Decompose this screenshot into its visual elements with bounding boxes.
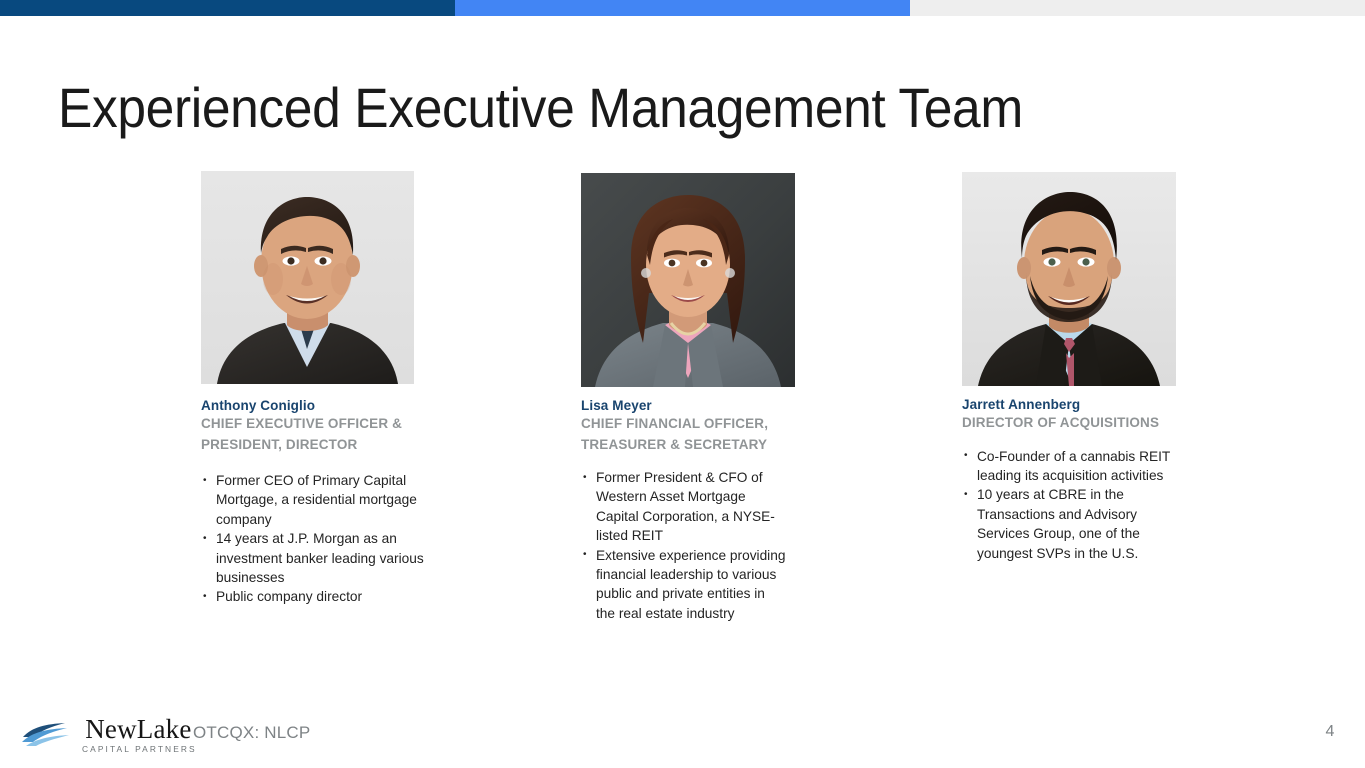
executive-role-1: CHIEF EXECUTIVE OFFICER & PRESIDENT, DIR… <box>201 414 411 455</box>
headshot-photo-anthony-coniglio <box>201 171 414 384</box>
headshot-photo-lisa-meyer <box>581 173 795 387</box>
list-item: 14 years at J.P. Morgan as an investment… <box>201 529 439 587</box>
executive-card-3: Jarrett Annenberg DIRECTOR OF ACQUISITIO… <box>962 160 1184 563</box>
list-item: Co-Founder of a cannabis REIT leading it… <box>962 447 1182 486</box>
executive-name-2: Lisa Meyer <box>581 397 796 414</box>
list-item: Extensive experience providing financial… <box>581 546 786 624</box>
logo-wordmark: NewLake CAPITAL PARTNERS <box>80 716 197 753</box>
logo-primary-text: NewLake <box>85 716 191 743</box>
list-item: Former CEO of Primary Capital Mortgage, … <box>201 471 439 529</box>
executive-role-3: DIRECTOR OF ACQUISITIONS <box>962 413 1177 434</box>
accent-bar-segment-dark <box>0 0 455 16</box>
executive-name-3: Jarrett Annenberg <box>962 396 1184 413</box>
executive-name-1: Anthony Coniglio <box>201 397 441 414</box>
accent-bar-segment-gray <box>910 0 1365 16</box>
executive-bullets-1: Former CEO of Primary Capital Mortgage, … <box>201 471 439 607</box>
page-number: 4 <box>1320 723 1340 741</box>
top-accent-bar <box>0 0 1365 16</box>
logo-secondary-text: CAPITAL PARTNERS <box>80 745 197 753</box>
executive-bullets-3: Co-Founder of a cannabis REIT leading it… <box>962 447 1182 563</box>
list-item: 10 years at CBRE in the Transactions and… <box>962 485 1182 563</box>
company-logo: NewLake CAPITAL PARTNERS <box>20 716 197 753</box>
stock-ticker: OTCQX: NLCP <box>193 723 310 743</box>
executive-role-2: CHIEF FINANCIAL OFFICER, TREASURER & SEC… <box>581 414 781 455</box>
page-title: Experienced Executive Management Team <box>58 74 1023 142</box>
wave-logo-icon <box>20 720 74 750</box>
executive-card-1: Anthony Coniglio CHIEF EXECUTIVE OFFICER… <box>201 160 441 607</box>
list-item: Public company director <box>201 587 439 606</box>
accent-bar-segment-blue <box>455 0 910 16</box>
executive-bullets-2: Former President & CFO of Western Asset … <box>581 468 786 623</box>
list-item: Former President & CFO of Western Asset … <box>581 468 786 546</box>
executive-card-2: Lisa Meyer CHIEF FINANCIAL OFFICER, TREA… <box>581 160 796 623</box>
headshot-photo-jarrett-annenberg <box>962 172 1176 386</box>
